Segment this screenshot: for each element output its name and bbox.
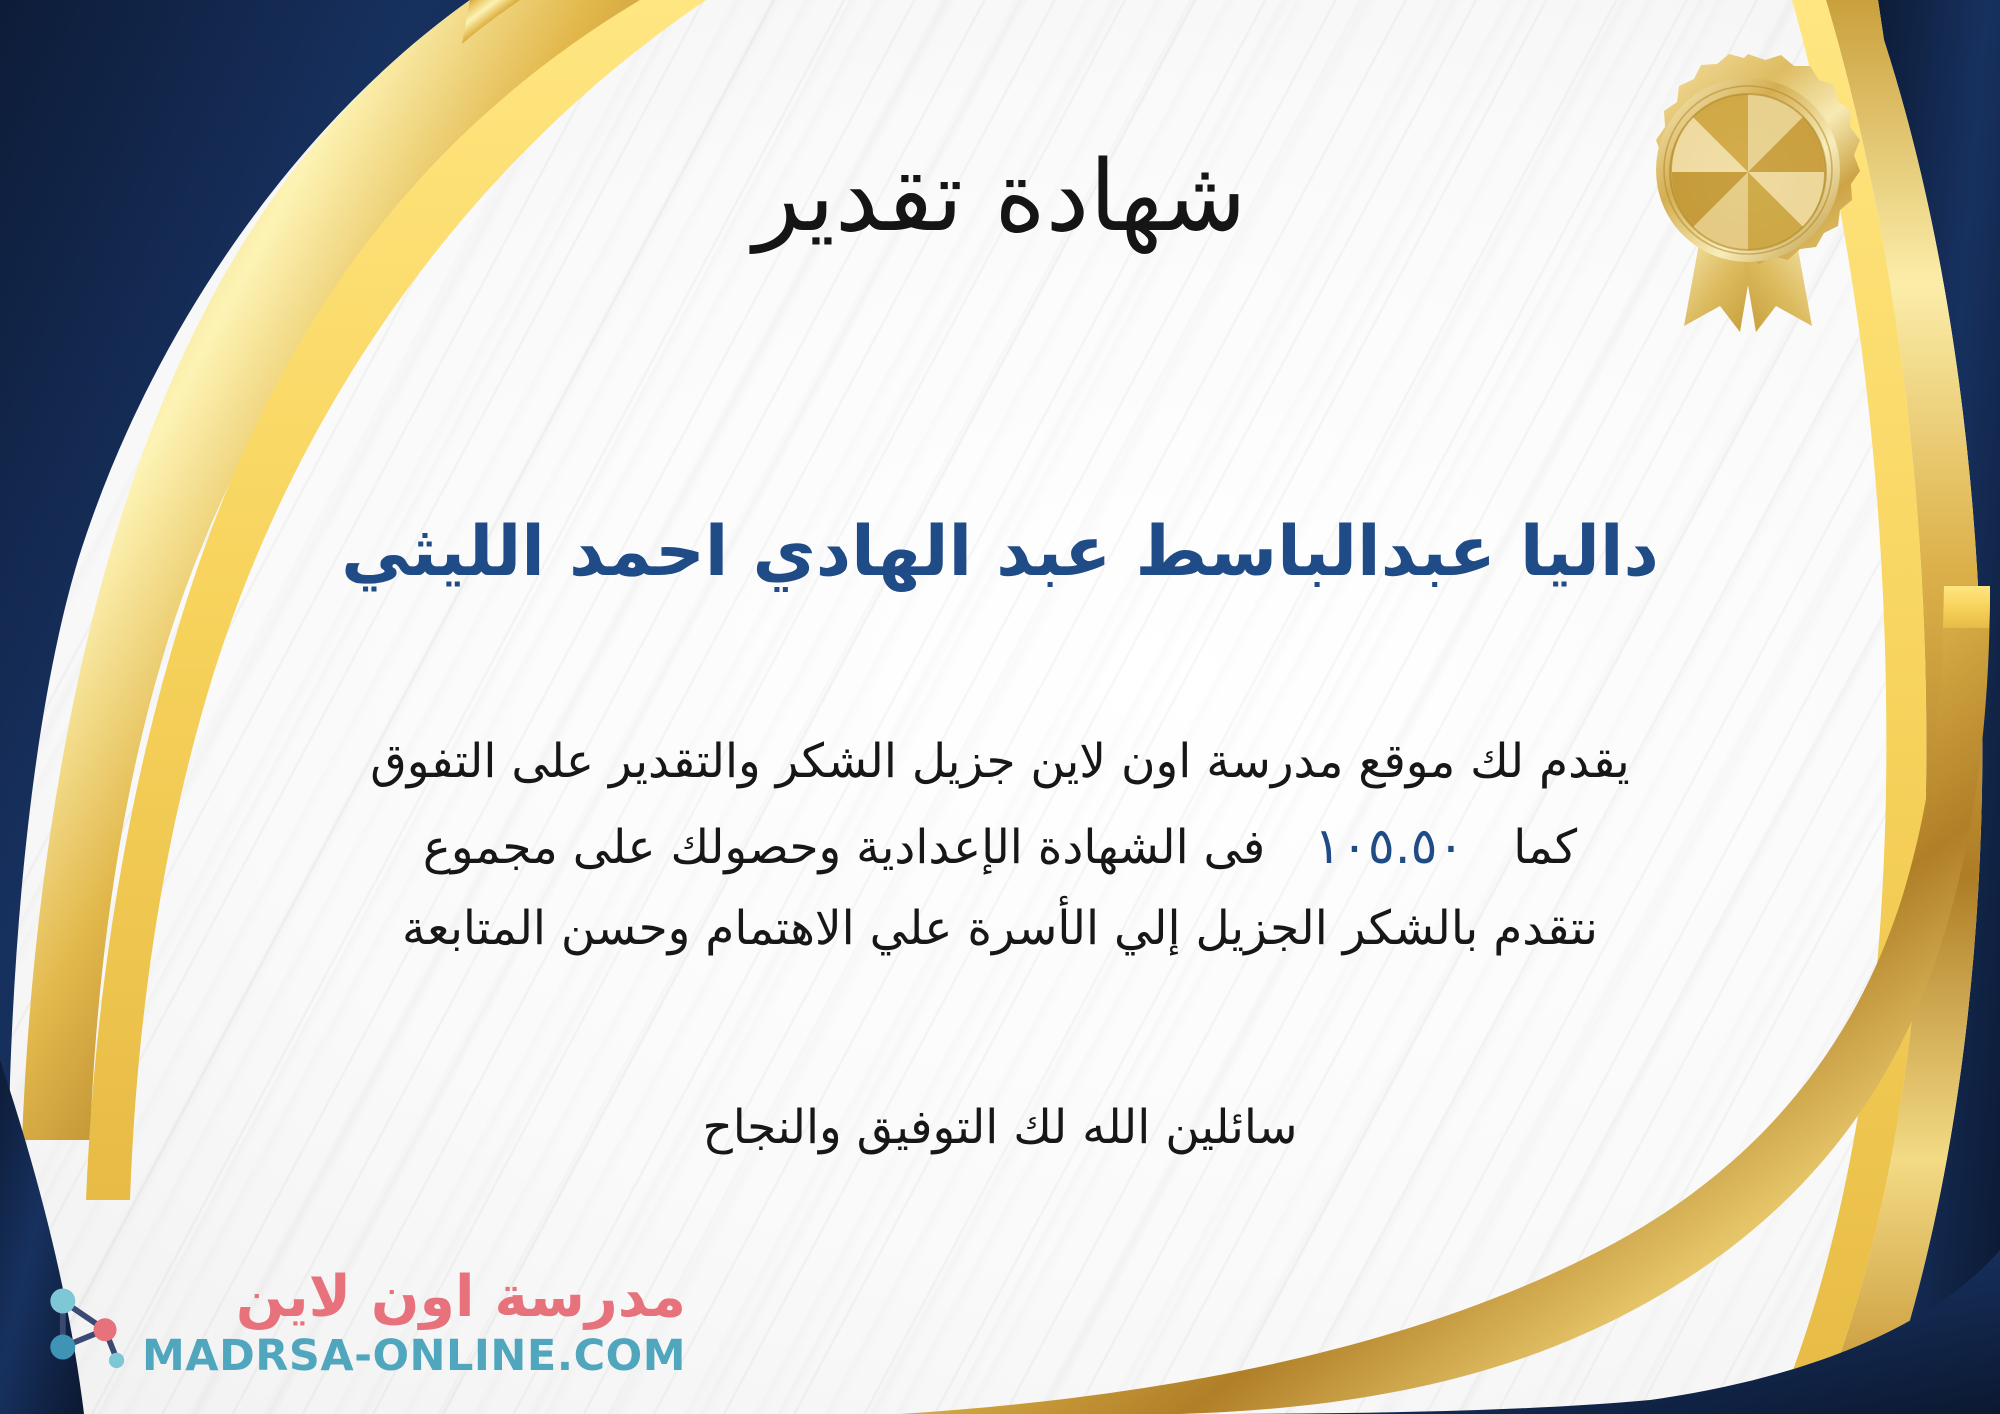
gold-seal-rosette-icon	[1588, 24, 1908, 344]
recipient-name: داليا عبدالباسط عبد الهادي احمد الليثي	[0, 512, 2000, 593]
certificate-body: يقدم لك موقع مدرسة اون لاين جزيل الشكر و…	[0, 722, 2000, 970]
body-line-2-prefix: فى الشهادة الإعدادية وحصولك على مجموع	[423, 820, 1265, 875]
body-line-2-suffix: كما	[1513, 820, 1577, 875]
body-line-3: نتقدم بالشكر الجزيل إلي الأسرة علي الاهت…	[150, 889, 1850, 970]
network-nodes-icon	[34, 1276, 130, 1372]
logo-arabic-text: مدرسة اون لاين	[236, 1269, 686, 1326]
certificate-page: شهادة تقدير داليا عبدالباسط عبد الهادي ا…	[0, 0, 2000, 1414]
closing-line: سائلين الله لك التوفيق والنجاح	[0, 1100, 2000, 1155]
total-score-value: ١٠٥.٥٠	[1280, 817, 1498, 875]
brand-logo[interactable]: مدرسة اون لاين MADRSA-ONLINE.COM	[34, 1269, 686, 1378]
logo-latin-text: MADRSA-ONLINE.COM	[142, 1335, 686, 1378]
body-line-2: كما ١٠٥.٥٠ فى الشهادة الإعدادية وحصولك ع…	[150, 803, 1850, 889]
body-line-1: يقدم لك موقع مدرسة اون لاين جزيل الشكر و…	[150, 722, 1850, 803]
logo-text: مدرسة اون لاين MADRSA-ONLINE.COM	[142, 1269, 686, 1378]
